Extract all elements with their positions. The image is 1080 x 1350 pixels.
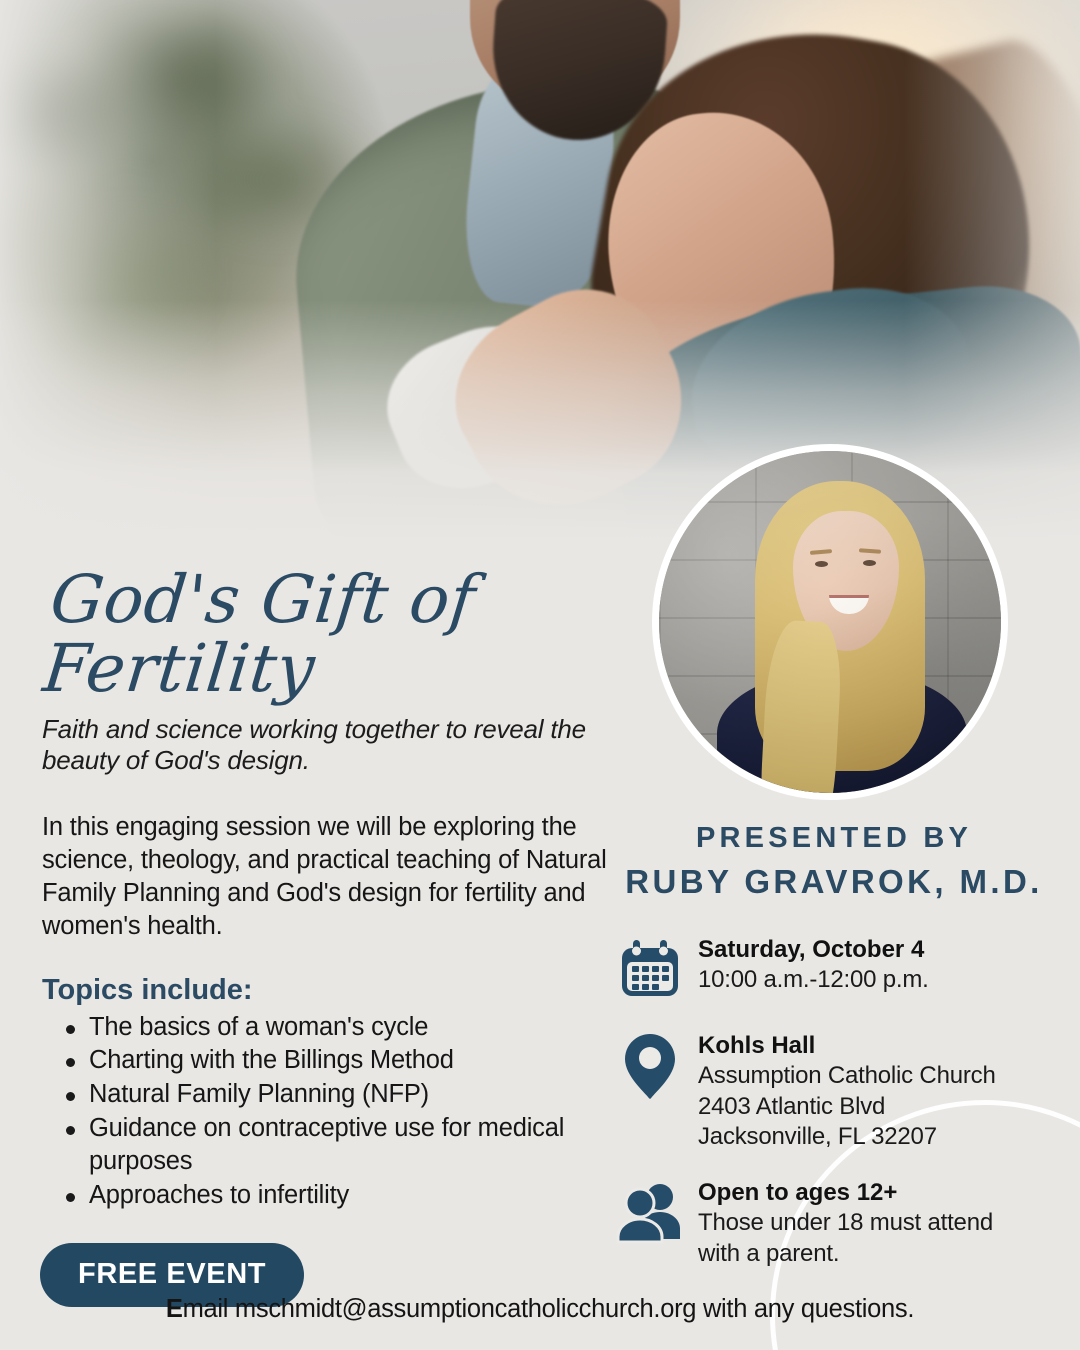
presenter-block: PRESENTED BY RUBY GRAVROK, M.D. bbox=[614, 818, 1054, 906]
detail-line: 2403 Atlantic Blvd bbox=[698, 1092, 996, 1123]
footer-lead-letter: E bbox=[166, 1295, 183, 1323]
flyer-subtitle: Faith and science working together to re… bbox=[42, 714, 610, 777]
detail-line: with a parent. bbox=[698, 1239, 993, 1270]
detail-line: Jacksonville, FL 32207 bbox=[698, 1122, 996, 1153]
calendar-icon bbox=[614, 934, 686, 1006]
headshot-vignette bbox=[659, 451, 1001, 793]
event-details-list: Saturday, October 4 10:00 a.m.-12:00 p.m… bbox=[614, 934, 1054, 1269]
event-flyer: God's Gift of Fertility Faith and scienc… bbox=[0, 0, 1080, 1350]
presenter-name: RUBY GRAVROK, M.D. bbox=[614, 859, 1054, 906]
list-item: The basics of a woman's cycle bbox=[56, 1011, 610, 1044]
right-content-column: PRESENTED BY RUBY GRAVROK, M.D. bbox=[614, 818, 1054, 1293]
list-item: Charting with the Billings Method bbox=[56, 1044, 610, 1077]
location-pin-icon bbox=[614, 1030, 686, 1102]
detail-text-date: Saturday, October 4 10:00 a.m.-12:00 p.m… bbox=[686, 934, 929, 996]
detail-row-location: Kohls Hall Assumption Catholic Church 24… bbox=[614, 1030, 1054, 1153]
list-item: Guidance on contraceptive use for medica… bbox=[56, 1112, 610, 1178]
detail-line: Assumption Catholic Church bbox=[698, 1061, 996, 1092]
detail-text-ages: Open to ages 12+ Those under 18 must att… bbox=[686, 1177, 993, 1269]
presenter-headshot bbox=[652, 444, 1008, 800]
detail-title: Kohls Hall bbox=[698, 1032, 996, 1061]
detail-text-location: Kohls Hall Assumption Catholic Church 24… bbox=[686, 1030, 996, 1153]
detail-line: Those under 18 must attend bbox=[698, 1208, 993, 1239]
footer-contact: Email mschmidt@assumptioncatholicchurch.… bbox=[0, 1295, 1080, 1324]
detail-line: 10:00 a.m.-12:00 p.m. bbox=[698, 965, 929, 996]
people-icon bbox=[614, 1177, 686, 1249]
left-content-column: God's Gift of Fertility Faith and scienc… bbox=[40, 565, 610, 1307]
detail-row-date: Saturday, October 4 10:00 a.m.-12:00 p.m… bbox=[614, 934, 1054, 1006]
flyer-title: God's Gift of Fertility bbox=[40, 565, 625, 704]
flyer-intro-paragraph: In this engaging session we will be expl… bbox=[42, 811, 610, 944]
list-item: Natural Family Planning (NFP) bbox=[56, 1078, 610, 1111]
detail-row-ages: Open to ages 12+ Those under 18 must att… bbox=[614, 1177, 1054, 1269]
presented-by-label: PRESENTED BY bbox=[696, 822, 972, 854]
list-item: Approaches to infertility bbox=[56, 1179, 610, 1212]
topics-list: The basics of a woman's cycle Charting w… bbox=[40, 1011, 610, 1212]
topics-heading: Topics include: bbox=[42, 974, 610, 1007]
detail-title: Open to ages 12+ bbox=[698, 1179, 993, 1208]
detail-title: Saturday, October 4 bbox=[698, 936, 929, 965]
footer-text: mail mschmidt@assumptioncatholicchurch.o… bbox=[183, 1295, 915, 1323]
